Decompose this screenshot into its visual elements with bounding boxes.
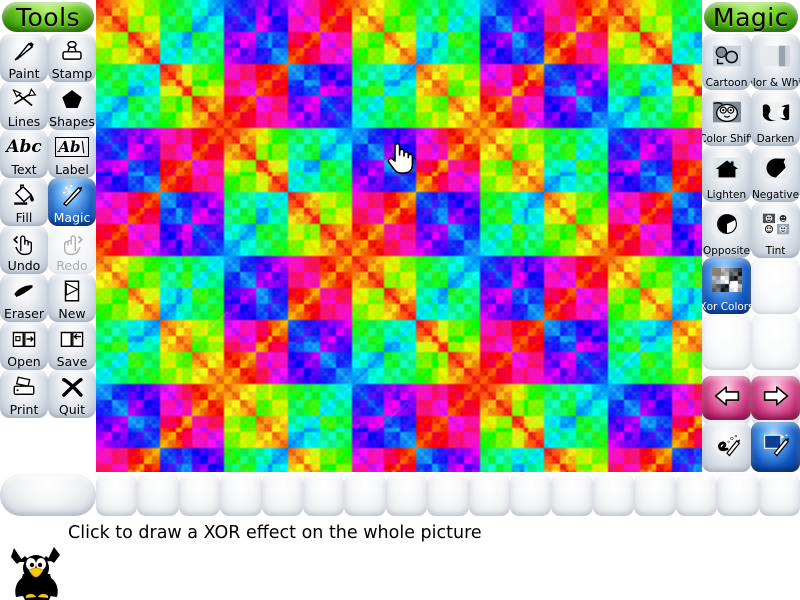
magic-button-lighten[interactable]: Lighten (702, 146, 751, 202)
paint-bucket-icon (0, 178, 48, 211)
tool-button-quit[interactable]: Quit (48, 370, 96, 418)
color-swatch[interactable] (303, 474, 344, 516)
color-swatch[interactable] (717, 474, 758, 516)
color-swatch[interactable] (510, 474, 551, 516)
tool-button-print[interactable]: Print (0, 370, 48, 418)
magic-button-label: Color Shift (702, 134, 751, 145)
tool-button-magic[interactable]: Magic (48, 178, 96, 226)
cartoon-icon (702, 34, 751, 78)
tool-button-label: Text (11, 163, 36, 176)
open-folder-icon (0, 322, 48, 355)
arrow-right-icon (761, 383, 791, 413)
status-text: Click to draw a XOR effect on the whole … (68, 523, 482, 543)
color-white-icon (751, 34, 800, 78)
label-abc-icon: Ab\ (48, 130, 96, 163)
tool-button-lines[interactable]: Lines (0, 82, 48, 130)
magic-effects-panel: CartoonColor & WhiteColor ShiftDarkenLig… (702, 34, 800, 374)
tool-button-stamp[interactable]: Stamp (48, 34, 96, 82)
quit-x-icon (48, 370, 96, 403)
negative-icon (751, 146, 800, 190)
empty-slot (751, 314, 800, 369)
status-bar: Click to draw a XOR effect on the whole … (0, 518, 800, 548)
drawing-canvas-area[interactable] (96, 0, 702, 472)
color-swatch[interactable] (551, 474, 592, 516)
tool-button-label: New (58, 307, 85, 320)
magic-pagination (702, 376, 800, 420)
magic-button-label: Darken (757, 134, 795, 145)
color-swatch[interactable] (386, 474, 427, 516)
empty-slot (702, 314, 751, 369)
magic-button-color-white[interactable]: Color & White (751, 34, 800, 90)
magic-panel-title: Magic (704, 2, 798, 32)
color-swatch[interactable] (137, 474, 178, 516)
next-page-button[interactable] (751, 376, 800, 420)
tux-penguin-icon (8, 542, 68, 600)
magic-button-xor-colors[interactable]: Xor Colors (702, 258, 751, 314)
magic-button-color-shift[interactable]: Color Shift (702, 90, 751, 146)
darken-moon-icon (751, 90, 800, 134)
stamp-icon (48, 34, 96, 67)
tool-button-label: Stamp (52, 67, 93, 80)
save-disk-icon (48, 322, 96, 355)
tool-button-label: Fill (16, 211, 33, 224)
tool-button-label: Print (10, 403, 39, 416)
redo-hand-icon (48, 226, 96, 259)
magic-button-label: Xor Colors (702, 302, 751, 313)
magic-button-empty (702, 314, 751, 370)
magic-button-tint[interactable]: Tint (751, 202, 800, 258)
wand-fullimage-icon (761, 432, 791, 462)
arrow-left-icon (712, 383, 742, 413)
tool-button-label: Open (7, 355, 40, 368)
color-swatch-selected[interactable] (0, 474, 96, 516)
magic-button-darken[interactable]: Darken (751, 90, 800, 146)
eraser-icon (0, 274, 48, 307)
printer-icon (0, 370, 48, 403)
previous-page-button[interactable] (702, 376, 751, 420)
tool-button-eraser[interactable]: Eraser (0, 274, 48, 322)
tool-button-open[interactable]: Open (0, 322, 48, 370)
tool-button-redo: Redo (48, 226, 96, 274)
color-swatch[interactable] (593, 474, 634, 516)
tool-button-label[interactable]: Ab\Label (48, 130, 96, 178)
magic-button-label: Tint (766, 246, 786, 257)
tool-button-label: Shapes (49, 115, 95, 128)
tool-button-label: Magic (54, 211, 91, 224)
color-swatch[interactable] (634, 474, 675, 516)
tool-button-text[interactable]: AbcText (0, 130, 48, 178)
undo-hand-icon (0, 226, 48, 259)
tool-button-label: Quit (59, 403, 85, 416)
tool-button-label: Paint (9, 67, 40, 80)
color-swatch[interactable] (469, 474, 510, 516)
magic-button-opposite[interactable]: Opposite (702, 202, 751, 258)
lines-icon (0, 82, 48, 115)
magic-button-label: Opposite (703, 246, 750, 257)
tool-button-save[interactable]: Save (48, 322, 96, 370)
magic-button-negative[interactable]: Negative (751, 146, 800, 202)
color-swatch[interactable] (344, 474, 385, 516)
tool-button-shapes[interactable]: Shapes (48, 82, 96, 130)
magic-button-label: Cartoon (706, 78, 748, 89)
tool-button-fill[interactable]: Fill (0, 178, 48, 226)
tool-button-new[interactable]: New (48, 274, 96, 322)
opposite-icon (702, 202, 751, 246)
color-swatch[interactable] (179, 474, 220, 516)
tool-button-label: Undo (8, 259, 41, 272)
magic-wand-icon (48, 178, 96, 211)
tint-faces-icon (751, 202, 800, 246)
new-page-icon (48, 274, 96, 307)
wand-paint-icon (712, 432, 742, 462)
color-palette (0, 474, 800, 516)
tools-panel-title: Tools (2, 2, 94, 32)
text-abc-icon: Abc (0, 130, 48, 163)
tool-button-label: Label (55, 163, 89, 176)
magic-button-empty (751, 258, 800, 314)
tools-panel: PaintStampLinesShapesAbcTextAb\LabelFill… (0, 34, 96, 474)
magic-button-label: Negative (752, 190, 799, 201)
tool-button-paint[interactable]: Paint (0, 34, 48, 82)
lighten-house-icon (702, 146, 751, 190)
color-swatch[interactable] (262, 474, 303, 516)
drawing-canvas[interactable] (96, 0, 702, 472)
tux-paint-window: Tools PaintStampLinesShapesAbcTextAb\Lab… (0, 0, 800, 600)
color-swatch[interactable] (96, 474, 137, 516)
tool-button-undo[interactable]: Undo (0, 226, 48, 274)
color-shift-icon (702, 90, 751, 134)
tool-button-label: Lines (8, 115, 41, 128)
empty-slot (751, 258, 800, 313)
fullscreen-magic-mode-button[interactable] (751, 422, 800, 472)
tool-button-label: Redo (56, 259, 87, 272)
xor-colors-icon (702, 258, 751, 302)
color-swatch[interactable] (676, 474, 717, 516)
magic-button-cartoon[interactable]: Cartoon (702, 34, 751, 90)
color-swatch[interactable] (427, 474, 468, 516)
magic-button-empty (751, 314, 800, 370)
color-swatch[interactable] (220, 474, 261, 516)
color-swatch[interactable] (759, 474, 800, 516)
tool-button-label: Eraser (4, 307, 44, 320)
tool-button-label: Save (57, 355, 88, 368)
magic-button-label: Color & White (751, 78, 800, 89)
paint-with-magic-mode-button[interactable] (702, 422, 751, 472)
magic-button-label: Lighten (707, 190, 746, 201)
paintbrush-icon (0, 34, 48, 67)
magic-mode-selector (702, 422, 800, 472)
pentagon-shape-icon (48, 82, 96, 115)
